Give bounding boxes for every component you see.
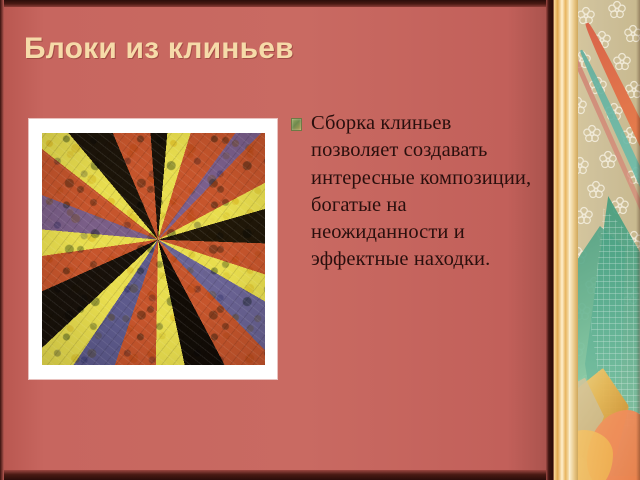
slide-border-top — [0, 0, 551, 7]
quilt-vignette — [42, 133, 265, 365]
deco-gold-highlight — [569, 0, 578, 480]
slide-border-right — [546, 0, 553, 480]
quilt-image-frame — [29, 119, 277, 379]
deco-right-shadow — [636, 0, 640, 480]
slide-border-bottom — [0, 470, 551, 480]
presentation-slide: Блоки из клиньев Сборка клиньев позволяе… — [0, 0, 640, 480]
body-paragraph: Сборка клиньев позволяет создавать интер… — [311, 110, 541, 274]
slide-border-left — [0, 0, 4, 480]
decorative-side-band — [551, 0, 640, 480]
content-placeholder: Сборка клиньев позволяет создавать интер… — [291, 110, 541, 274]
quilt-block-image — [42, 133, 265, 365]
slide-title: Блоки из клиньев — [24, 32, 524, 65]
square-bullet-icon — [291, 118, 302, 131]
bullet-list-item: Сборка клиньев позволяет создавать интер… — [291, 110, 541, 274]
